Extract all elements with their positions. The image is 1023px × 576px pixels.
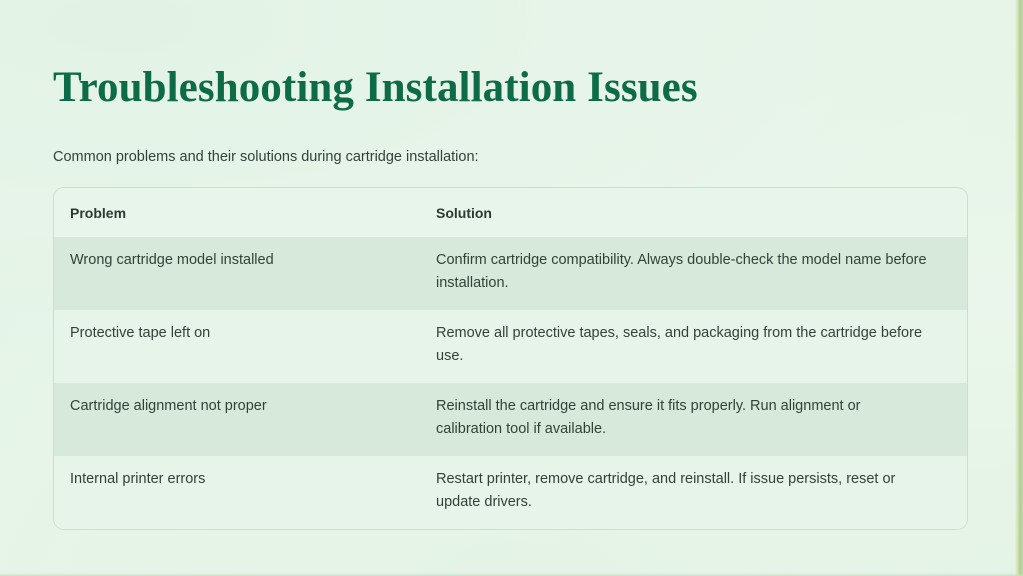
- cell-problem: Protective tape left on: [54, 310, 436, 383]
- page-subtitle: Common problems and their solutions duri…: [53, 147, 479, 167]
- table-row: Wrong cartridge model installed Confirm …: [54, 237, 967, 310]
- column-header-solution: Solution: [436, 188, 967, 237]
- right-edge-accent-band: [1015, 0, 1023, 576]
- table-header: Problem Solution: [54, 188, 967, 237]
- table-header-row: Problem Solution: [54, 188, 967, 237]
- issues-table-card: Problem Solution Wrong cartridge model i…: [53, 187, 968, 530]
- cell-problem: Wrong cartridge model installed: [54, 237, 436, 310]
- table-row: Cartridge alignment not proper Reinstall…: [54, 383, 967, 456]
- cell-problem: Internal printer errors: [54, 456, 436, 529]
- issues-table: Problem Solution Wrong cartridge model i…: [54, 188, 967, 529]
- cell-solution: Restart printer, remove cartridge, and r…: [436, 456, 967, 529]
- table-row: Protective tape left on Remove all prote…: [54, 310, 967, 383]
- cell-solution: Reinstall the cartridge and ensure it fi…: [436, 383, 967, 456]
- column-header-problem: Problem: [54, 188, 436, 237]
- slide-canvas: Troubleshooting Installation Issues Comm…: [0, 0, 1023, 576]
- table-body: Wrong cartridge model installed Confirm …: [54, 237, 967, 529]
- cell-solution: Remove all protective tapes, seals, and …: [436, 310, 967, 383]
- page-title: Troubleshooting Installation Issues: [53, 64, 698, 112]
- cell-solution: Confirm cartridge compatibility. Always …: [436, 237, 967, 310]
- table-row: Internal printer errors Restart printer,…: [54, 456, 967, 529]
- cell-problem: Cartridge alignment not proper: [54, 383, 436, 456]
